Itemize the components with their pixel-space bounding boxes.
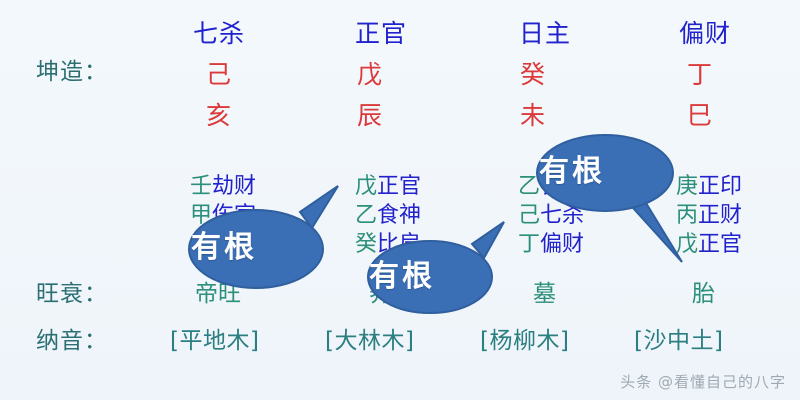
nayin-month: [大林木] — [325, 330, 414, 353]
hidden-stem-row: 戊正官 — [355, 172, 421, 201]
hidden-stem-char: 己 — [518, 203, 540, 228]
hidden-stem-row: 己七杀 — [518, 201, 584, 230]
hidden-stem-char: 丙 — [676, 203, 698, 228]
row-label-nayin: 纳音： — [36, 330, 108, 353]
hidden-stem-row: 癸比肩 — [355, 230, 421, 259]
nayin-year: [平地木] — [170, 330, 259, 353]
hidden-stem-god: 食神 — [377, 203, 421, 228]
hidden-stem-char: 乙 — [355, 203, 377, 228]
hidden-stem-god: 偏财 — [540, 232, 584, 257]
ten-god-day: 日主 — [519, 21, 571, 46]
hidden-stem-char: 甲 — [190, 203, 212, 228]
bazi-chart: 坤造： 旺衰： 纳音： 七杀 正官 日主 偏财 己 戊 癸 丁 亥 辰 未 巳 … — [0, 0, 800, 400]
hidden-stem-char: 壬 — [190, 174, 212, 199]
stem-hour: 丁 — [687, 62, 712, 87]
vitality-year: 帝旺 — [195, 283, 241, 306]
branch-day: 未 — [520, 103, 545, 128]
hidden-stem-god: 正官 — [698, 232, 742, 257]
hidden-stem-god: 食神 — [540, 174, 584, 199]
ten-god-month: 正官 — [355, 21, 407, 46]
ten-god-year: 七杀 — [193, 21, 245, 46]
hidden-stem-god: 比肩 — [377, 232, 421, 257]
hidden-stems-month: 戊正官 乙食神 癸比肩 — [355, 172, 421, 259]
hidden-stem-god: 正官 — [377, 174, 421, 199]
hidden-stem-god: 劫财 — [212, 174, 256, 199]
branch-year: 亥 — [206, 103, 231, 128]
annotation-bubble-1-label: 有根 — [191, 233, 257, 263]
nayin-hour: [沙中土] — [634, 330, 723, 353]
hidden-stem-god: 伤官 — [212, 203, 256, 228]
bubble-tail-2 — [472, 222, 504, 258]
hidden-stem-row: 甲伤官 — [190, 201, 256, 230]
row-label-pillars: 坤造： — [36, 61, 108, 84]
branch-month: 辰 — [357, 103, 382, 128]
hidden-stem-char: 戊 — [355, 174, 377, 199]
hidden-stem-row: 戊正官 — [676, 230, 742, 259]
hidden-stem-char: 乙 — [518, 174, 540, 199]
hidden-stem-row: 乙食神 — [355, 201, 421, 230]
hidden-stem-row: 丙正财 — [676, 201, 742, 230]
stem-month: 戊 — [357, 62, 382, 87]
hidden-stem-char: 戊 — [676, 232, 698, 257]
hidden-stem-god: 七杀 — [540, 203, 584, 228]
bubble-tail-3 — [624, 198, 682, 262]
hidden-stem-row: 乙食神 — [518, 172, 584, 201]
hidden-stem-god: 正财 — [698, 203, 742, 228]
hidden-stem-row: 丁偏财 — [518, 230, 584, 259]
hidden-stem-row: 壬劫财 — [190, 172, 256, 201]
hidden-stems-year: 壬劫财 甲伤官 — [190, 172, 256, 230]
stem-day: 癸 — [520, 62, 545, 87]
hidden-stems-day: 乙食神 己七杀 丁偏财 — [518, 172, 584, 259]
bubble-tail-1 — [300, 186, 338, 228]
vitality-hour: 胎 — [692, 283, 715, 306]
hidden-stem-god: 正印 — [698, 174, 742, 199]
hidden-stems-hour: 庚正印 丙正财 戊正官 — [676, 172, 742, 259]
stem-year: 己 — [206, 62, 231, 87]
watermark: 头条 @看懂自己的八字 — [620, 371, 786, 392]
nayin-day: [杨柳木] — [480, 330, 569, 353]
vitality-month: 养 — [369, 283, 392, 306]
row-label-vitality: 旺衰： — [36, 283, 108, 306]
hidden-stem-char: 丁 — [518, 232, 540, 257]
hidden-stem-char: 癸 — [355, 232, 377, 257]
hidden-stem-row: 庚正印 — [676, 172, 742, 201]
ten-god-hour: 偏财 — [679, 21, 731, 46]
branch-hour: 巳 — [687, 103, 712, 128]
vitality-day: 墓 — [533, 283, 556, 306]
hidden-stem-char: 庚 — [676, 174, 698, 199]
